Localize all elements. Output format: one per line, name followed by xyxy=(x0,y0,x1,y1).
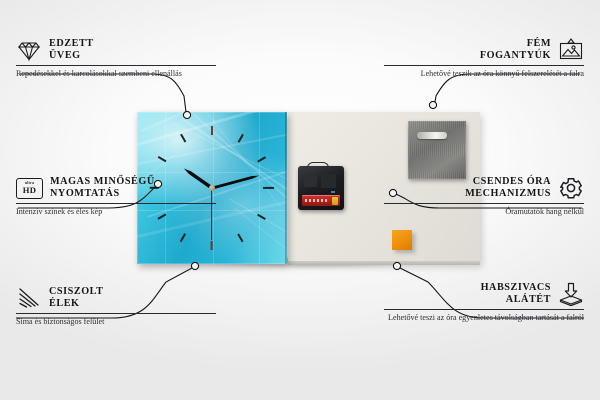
arrow-onto-pad-icon xyxy=(558,282,584,306)
title-line-2: ALÁTÉT xyxy=(481,294,551,306)
feature-quiet-mechanism: CSENDES ÓRA MECHANIZMUS Óramutatók hang … xyxy=(384,176,584,218)
title-line-2: ÜVEG xyxy=(49,50,94,62)
feature-header: CSISZOLT ÉLEK xyxy=(16,286,216,310)
feature-subtitle: Lehetővé teszi az óra egyenletes távolsá… xyxy=(384,313,584,324)
infographic-canvas: EDZETT ÜVEG Repedésekkel és karcolásokka… xyxy=(0,0,600,400)
feature-header: ultra HD MAGAS MINŐSÉGŰ NYOMTATÁS xyxy=(16,176,216,200)
divider xyxy=(16,65,216,66)
feature-title: CSISZOLT ÉLEK xyxy=(49,286,103,310)
gear-icon xyxy=(558,176,584,200)
feature-title: MAGAS MINŐSÉGŰ NYOMTATÁS xyxy=(50,176,155,200)
badge-large-text: HD xyxy=(23,186,37,195)
polished-edges-icon xyxy=(16,286,42,310)
title-line-2: NYOMTATÁS xyxy=(50,188,155,200)
feature-header: FÉM FOGANTYÚK xyxy=(384,38,584,62)
feature-title: EDZETT ÜVEG xyxy=(49,38,94,62)
divider xyxy=(16,203,216,204)
title-line-1: CSISZOLT xyxy=(49,286,103,298)
feature-tempered-glass: EDZETT ÜVEG Repedésekkel és karcolásokka… xyxy=(16,38,216,80)
divider xyxy=(384,309,584,310)
feature-metal-handles: FÉM FOGANTYÚK Lehetővé teszik az óra kön… xyxy=(384,38,584,80)
feature-title: HABSZIVACS ALÁTÉT xyxy=(481,282,551,306)
diamond-icon xyxy=(16,38,42,62)
title-line-1: HABSZIVACS xyxy=(481,282,551,294)
feature-header: CSENDES ÓRA MECHANIZMUS xyxy=(384,176,584,200)
feature-header: HABSZIVACS ALÁTÉT xyxy=(384,282,584,306)
title-line-1: EDZETT xyxy=(49,38,94,50)
feature-header: EDZETT ÜVEG xyxy=(16,38,216,62)
title-line-2: MECHANIZMUS xyxy=(465,188,551,200)
feature-subtitle: Sima és biztonságos felület xyxy=(16,317,216,328)
feature-title: FÉM FOGANTYÚK xyxy=(480,38,551,62)
title-line-1: MAGAS MINŐSÉGŰ xyxy=(50,176,155,188)
divider xyxy=(384,203,584,204)
feature-foam-backing: HABSZIVACS ALÁTÉT Lehetővé teszi az óra … xyxy=(384,282,584,324)
feature-subtitle: Óramutatók hang nélkül xyxy=(384,207,584,218)
title-line-2: FOGANTYÚK xyxy=(480,50,551,62)
title-line-1: CSENDES ÓRA xyxy=(465,176,551,188)
feature-title: CSENDES ÓRA MECHANIZMUS xyxy=(465,176,551,200)
feature-subtitle: Intenzív színek és éles kép xyxy=(16,207,216,218)
ultra-hd-badge-icon: ultra HD xyxy=(16,178,43,199)
feature-subtitle: Lehetővé teszik az óra könnyű felszerelé… xyxy=(384,69,584,80)
hanging-frame-icon xyxy=(558,38,584,62)
divider xyxy=(16,313,216,314)
title-line-2: ÉLEK xyxy=(49,298,103,310)
feature-polished-edges: CSISZOLT ÉLEK Sima és biztonságos felüle… xyxy=(16,286,216,328)
title-line-1: FÉM xyxy=(480,38,551,50)
feature-subtitle: Repedésekkel és karcolásokkal szembeni e… xyxy=(16,69,216,80)
divider xyxy=(384,65,584,66)
feature-high-quality-print: ultra HD MAGAS MINŐSÉGŰ NYOMTATÁS Intenz… xyxy=(16,176,216,218)
